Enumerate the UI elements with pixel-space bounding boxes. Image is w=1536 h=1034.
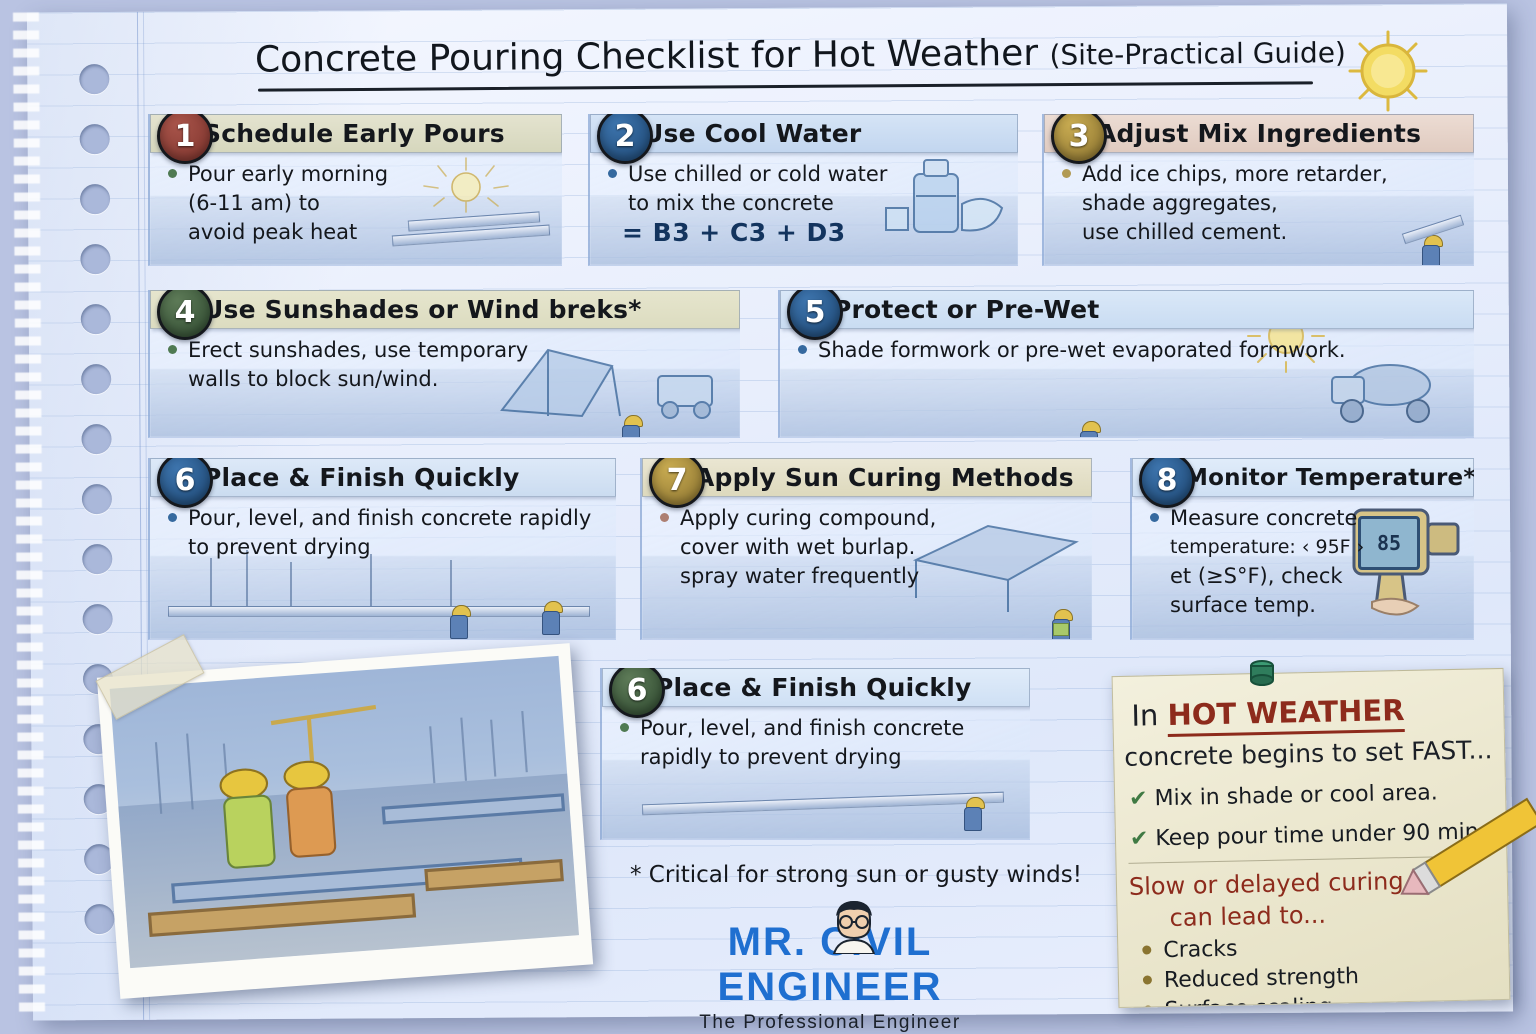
item-number-badge: 2 — [597, 114, 653, 164]
footnote-text: * Critical for strong sun or gusty winds… — [630, 862, 1082, 888]
punch-hole — [82, 484, 112, 514]
bullet-dot — [168, 345, 177, 354]
bullet-text: shade aggregates, — [1082, 191, 1278, 215]
torn-paper-edge — [13, 12, 45, 1020]
bullet-text: to prevent drying — [188, 535, 371, 559]
card-body: 6 Place & Finish Quickly Pour, level, an… — [600, 668, 1030, 840]
item-heading: Schedule Early Pours — [203, 119, 505, 148]
check-icon: ✔ — [1129, 786, 1148, 811]
note-heading-accent: HOT WEATHER — [1167, 693, 1405, 737]
bullet-dot — [1150, 513, 1159, 522]
sketch-ground — [780, 369, 1474, 437]
item-heading: Protect or Pre-Wet — [833, 295, 1099, 324]
engineer-avatar-icon — [828, 898, 880, 954]
bullet-text: et (≥S°F), check — [1170, 564, 1343, 588]
note-heading: In HOT WEATHER — [1131, 691, 1492, 733]
item-bullets: Erect sunshades, use temporary walls to … — [168, 336, 730, 394]
item-bullets: Apply curing compound, cover with wet bu… — [660, 504, 1082, 591]
item-bullets: Pour, level, and finish concrete rapidly… — [168, 504, 606, 562]
item-number-badge: 3 — [1051, 114, 1107, 164]
item-bullets: Measure concrete temperature: ‹ 95F › et… — [1150, 504, 1464, 620]
checklist-item-1[interactable]: 1 Schedule Early Pours Pour early mornin… — [148, 114, 562, 266]
bullet-line: et (≥S°F), check — [1150, 562, 1464, 591]
page-title-main: Concrete Pouring Checklist for Hot Weath… — [255, 33, 1038, 81]
punch-hole — [80, 124, 110, 154]
checklist-item-6[interactable]: 6 Place & Finish Quickly Pour, level, an… — [148, 458, 616, 640]
bullet-line: (6-11 am) to — [168, 189, 552, 218]
bullet-text: avoid peak heat — [188, 220, 357, 244]
item-heading: Apply Sun Curing Methods — [695, 463, 1074, 492]
item-number-badge: 7 — [649, 458, 705, 508]
bullet-text: to mix the concrete — [628, 191, 834, 215]
item-header: 3 Adjust Mix Ingredients — [1044, 114, 1474, 153]
item-heading: Monitor Temperature* — [1185, 465, 1474, 491]
bullet-line: use chilled cement. — [1062, 218, 1464, 247]
bullet-text: Shade formwork or pre-wet evaporated for… — [818, 338, 1346, 362]
item-header: 2 Use Cool Water — [590, 114, 1018, 153]
checklist-item-2[interactable]: 2 Use Cool Water Use chilled or cold wat… — [588, 114, 1018, 266]
checklist-item-5[interactable]: 5 Protect or Pre-Wet Shade formwork or p… — [778, 290, 1474, 438]
checklist-item-8[interactable]: 85 8 Monitor Temperature* Measure concre… — [1130, 458, 1474, 640]
item-bullets: Pour early morning (6-11 am) to avoid pe… — [168, 160, 552, 247]
page-title-subtitle: (Site-Practical Guide) — [1049, 36, 1346, 72]
bullet-dot — [620, 723, 629, 732]
bullet-line: cover with wet burlap. — [660, 533, 1082, 562]
card-body: 6 Place & Finish Quickly Pour, level, an… — [148, 458, 616, 640]
punch-hole — [83, 604, 113, 634]
card-body: 85 8 Monitor Temperature* Measure concre… — [1130, 458, 1474, 640]
item-header: 8 Monitor Temperature* — [1132, 458, 1474, 497]
bullet-text: cover with wet burlap. — [680, 535, 915, 559]
bullet-line: shade aggregates, — [1062, 189, 1464, 218]
item-heading: Use Cool Water — [643, 119, 861, 148]
bullet-line: Apply curing compound, — [660, 504, 1082, 533]
bullet-text: Pour, level, and finish concrete — [640, 716, 964, 740]
bullet-dot — [168, 169, 177, 178]
consequence-text: Cracks — [1163, 937, 1238, 964]
site-photo[interactable] — [97, 643, 593, 999]
item-header: 7 Apply Sun Curing Methods — [642, 458, 1092, 497]
item-bullets: Add ice chips, more retarder, shade aggr… — [1062, 160, 1464, 247]
bullet-line: Erect sunshades, use temporary — [168, 336, 730, 365]
item-number-badge: 6 — [609, 668, 665, 718]
formwork-sketch — [168, 606, 590, 617]
item-bullets: Shade formwork or pre-wet evaporated for… — [798, 336, 1464, 365]
item-header: 5 Protect or Pre-Wet — [780, 290, 1474, 329]
infographic-canvas: Concrete Pouring Checklist for Hot Weath… — [0, 0, 1536, 1024]
item-bullets: Use chilled or cold water to mix the con… — [608, 160, 1008, 247]
bullet-dot — [1062, 169, 1071, 178]
bullet-line: to mix the concrete — [608, 189, 1008, 218]
bullet-line: temperature: ‹ 95F › — [1150, 533, 1464, 562]
checklist-item-3[interactable]: 3 Adjust Mix Ingredients Add ice chips, … — [1042, 114, 1474, 266]
punch-hole — [80, 244, 110, 274]
bullet-line: Pour early morning — [168, 160, 552, 189]
bullet-text: rapidly to prevent drying — [640, 745, 902, 769]
bullet-dot — [1143, 975, 1152, 984]
card-body: 4 Use Sunshades or Wind breks* Erect sun… — [148, 290, 740, 438]
bullet-text: Apply curing compound, — [680, 506, 936, 530]
punch-hole — [81, 364, 111, 394]
bullet-text: use chilled cement. — [1082, 220, 1287, 244]
item-heading: Place & Finish Quickly — [203, 463, 519, 492]
item-number-badge: 8 — [1139, 458, 1195, 508]
note-heading-prefix: In — [1131, 698, 1168, 733]
check-icon: ✔ — [1130, 826, 1149, 851]
bullet-line: Pour, level, and finish concrete rapidly — [168, 504, 606, 533]
item-header: 6 Place & Finish Quickly — [602, 668, 1030, 707]
card-body: 1 Schedule Early Pours Pour early mornin… — [148, 114, 562, 266]
item-heading: Adjust Mix Ingredients — [1097, 119, 1421, 148]
bullet-line: spray water frequently — [660, 562, 1082, 591]
item-number-badge: 1 — [157, 114, 213, 164]
checklist-item-4[interactable]: 4 Use Sunshades or Wind breks* Erect sun… — [148, 290, 740, 438]
bullet-line: to prevent drying — [168, 533, 606, 562]
punch-hole — [79, 64, 109, 94]
bullet-dot — [168, 513, 177, 522]
note-check-1: ✔Mix in shade or cool area. — [1129, 780, 1438, 811]
card-body: 2 Use Cool Water Use chilled or cold wat… — [588, 114, 1018, 266]
bullet-text: spray water frequently — [680, 564, 919, 588]
brand-logo: MR. CIVIL ENGINEER The Professional Engi… — [620, 920, 1040, 1034]
bullet-dot — [798, 345, 807, 354]
consequence-text: Reduced strength — [1164, 964, 1359, 993]
formula-text: = B3 + C3 + D3 — [608, 218, 1008, 247]
bullet-dot — [660, 513, 669, 522]
item-header: 4 Use Sunshades or Wind breks* — [150, 290, 740, 329]
item-number-badge: 4 — [157, 290, 213, 340]
bullet-line: Use chilled or cold water — [608, 160, 1008, 189]
item-header: 6 Place & Finish Quickly — [150, 458, 616, 497]
card-body: 7 Apply Sun Curing Methods Apply curing … — [640, 458, 1092, 640]
pushpin-icon — [1245, 658, 1279, 692]
bullet-text: Measure concrete — [1170, 506, 1357, 530]
note-subheading: concrete begins to set FAST... — [1124, 735, 1493, 772]
bullet-text: Add ice chips, more retarder, — [1082, 162, 1388, 186]
bullet-line: Measure concrete — [1150, 504, 1464, 533]
item-number-badge: 5 — [787, 290, 843, 340]
bullet-text: Pour, level, and finish concrete rapidly — [188, 506, 591, 530]
bullet-line: Add ice chips, more retarder, — [1062, 160, 1464, 189]
card-body: 3 Adjust Mix Ingredients Add ice chips, … — [1042, 114, 1474, 266]
logo-tagline: The Professional Engineer — [620, 1012, 1040, 1034]
bullet-text: Erect sunshades, use temporary — [188, 338, 528, 362]
photo-sketch — [110, 656, 579, 968]
bullet-line: Shade formwork or pre-wet evaporated for… — [798, 336, 1464, 365]
photo-image — [110, 656, 579, 968]
note-warning-line-1: Slow or delayed curing — [1129, 867, 1404, 901]
bullet-dot — [1142, 945, 1151, 954]
punch-hole — [81, 424, 111, 454]
checklist-item-6-repeat[interactable]: 6 Place & Finish Quickly Pour, level, an… — [600, 668, 1030, 840]
bullet-text: walls to block sun/wind. — [188, 367, 438, 391]
check-text: Mix in shade or cool area. — [1154, 780, 1438, 811]
bullet-text: temperature: ‹ 95F › — [1170, 536, 1364, 558]
item-number-badge: 6 — [157, 458, 213, 508]
bullet-text: Pour early morning — [188, 162, 388, 186]
punch-hole — [80, 184, 110, 214]
bullet-line: Pour, level, and finish concrete — [620, 714, 1020, 743]
punch-hole — [82, 544, 112, 574]
consequence-item: Reduced strength — [1143, 964, 1359, 994]
item-heading: Use Sunshades or Wind breks* — [203, 295, 642, 324]
card-body: 5 Protect or Pre-Wet Shade formwork or p… — [778, 290, 1474, 438]
bullet-line: avoid peak heat — [168, 218, 552, 247]
sun-icon — [1340, 28, 1436, 114]
consequence-item: Cracks — [1142, 937, 1238, 964]
item-header: 1 Schedule Early Pours — [150, 114, 562, 153]
punch-hole — [81, 304, 111, 334]
bullet-text: Use chilled or cold water — [628, 162, 887, 186]
bullet-line: rapidly to prevent drying — [620, 743, 1020, 772]
bullet-line: surface temp. — [1150, 591, 1464, 620]
note-warning-line-2: can lead to... — [1169, 901, 1326, 932]
bullet-line: walls to block sun/wind. — [168, 365, 730, 394]
checklist-item-7[interactable]: 7 Apply Sun Curing Methods Apply curing … — [640, 458, 1092, 640]
bullet-text: surface temp. — [1170, 593, 1316, 617]
bullet-text: (6-11 am) to — [188, 191, 320, 215]
item-heading: Place & Finish Quickly — [655, 673, 971, 702]
bullet-dot — [608, 169, 617, 178]
punch-hole — [84, 904, 114, 934]
item-bullets: Pour, level, and finish concrete rapidly… — [620, 714, 1020, 772]
